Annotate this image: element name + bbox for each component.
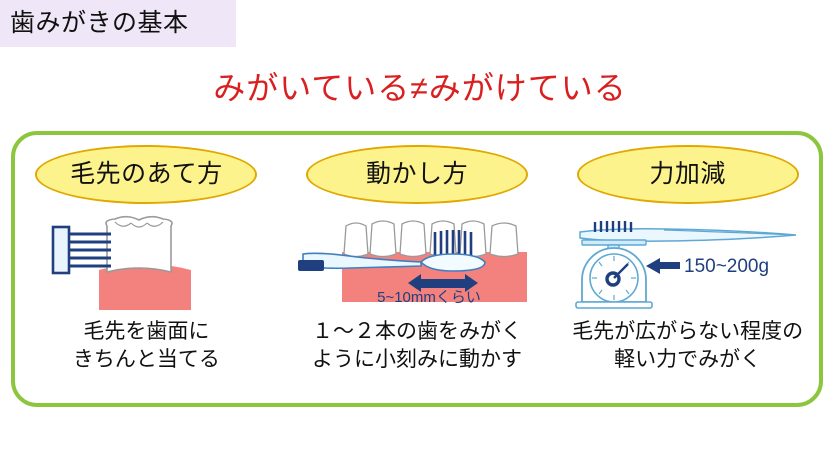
columns-container: 毛先のあて方	[11, 131, 823, 407]
brush-against-tooth-illustration	[11, 210, 282, 314]
pill-label: 毛先のあて方	[70, 162, 223, 187]
pill-brush-motion: 動かし方	[306, 145, 528, 204]
page-title: 歯みがきの基本	[0, 11, 189, 36]
scale-pressure-annotation: 150~200g	[684, 256, 769, 277]
pill-brush-pressure: 力加減	[577, 145, 799, 204]
pill-brush-angle: 毛先のあて方	[35, 145, 257, 204]
headline-text: みがいている≠みがけている	[0, 72, 840, 104]
column-brush-angle: 毛先のあて方	[11, 131, 282, 407]
page-title-chip: 歯みがきの基本	[0, 0, 236, 47]
brush-on-scale-illustration: 150~200g	[552, 210, 823, 314]
pill-label: 動かし方	[366, 162, 468, 187]
caption-brush-pressure: 毛先が広がらない程度の 軽い力でみがく	[572, 318, 803, 373]
stroke-length-annotation: 5~10mmくらい	[369, 286, 489, 307]
caption-brush-motion: １～２本の歯をみがく ように小刻みに動かす	[312, 318, 522, 373]
pill-label: 力加減	[649, 162, 726, 187]
column-brush-pressure: 力加減	[552, 131, 823, 407]
column-brush-motion: 動かし方	[282, 131, 553, 407]
caption-brush-angle: 毛先を歯面に きちんと当てる	[73, 318, 220, 373]
